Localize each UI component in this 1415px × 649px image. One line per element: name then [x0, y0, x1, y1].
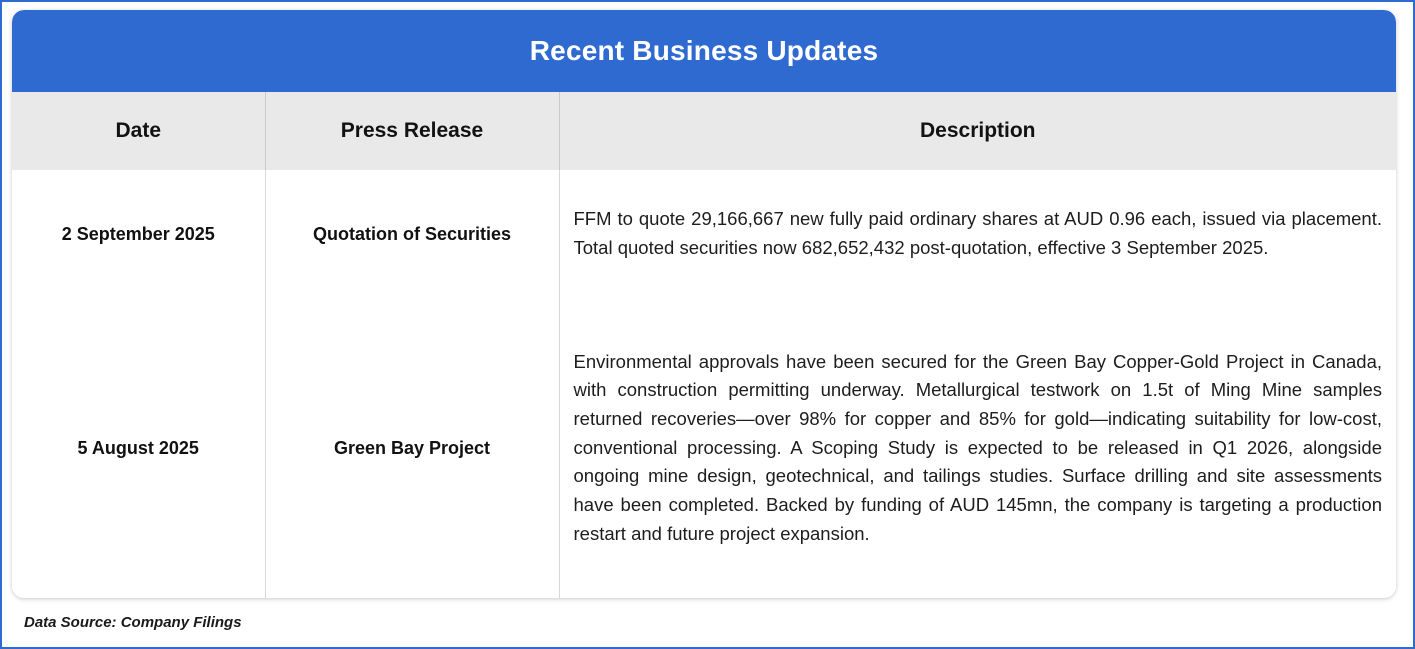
- data-source-note: Data Source: Company Filings: [24, 614, 242, 631]
- table-row: 5 August 2025 Green Bay Project Environm…: [12, 298, 1396, 598]
- column-header-press-release: Press Release: [265, 92, 559, 170]
- column-header-description: Description: [559, 92, 1396, 170]
- cell-date: 2 September 2025: [12, 170, 265, 298]
- table-body: 2 September 2025 Quotation of Securities…: [12, 170, 1396, 598]
- business-updates-table: Date Press Release Description 2 Septemb…: [12, 92, 1396, 598]
- cell-press-release: Green Bay Project: [265, 298, 559, 598]
- cell-description: Environmental approvals have been secure…: [559, 298, 1396, 598]
- table-header: Date Press Release Description: [12, 92, 1396, 170]
- recent-business-updates-card: Recent Business Updates Date Press Relea…: [12, 10, 1396, 598]
- page-root: Recent Business Updates Date Press Relea…: [0, 0, 1415, 649]
- page-title: Recent Business Updates: [530, 35, 879, 67]
- cell-description: FFM to quote 29,166,667 new fully paid o…: [559, 170, 1396, 298]
- card-title-bar: Recent Business Updates: [12, 10, 1396, 92]
- table-header-row: Date Press Release Description: [12, 92, 1396, 170]
- cell-date: 5 August 2025: [12, 298, 265, 598]
- table-row: 2 September 2025 Quotation of Securities…: [12, 170, 1396, 298]
- column-header-date: Date: [12, 92, 265, 170]
- cell-press-release: Quotation of Securities: [265, 170, 559, 298]
